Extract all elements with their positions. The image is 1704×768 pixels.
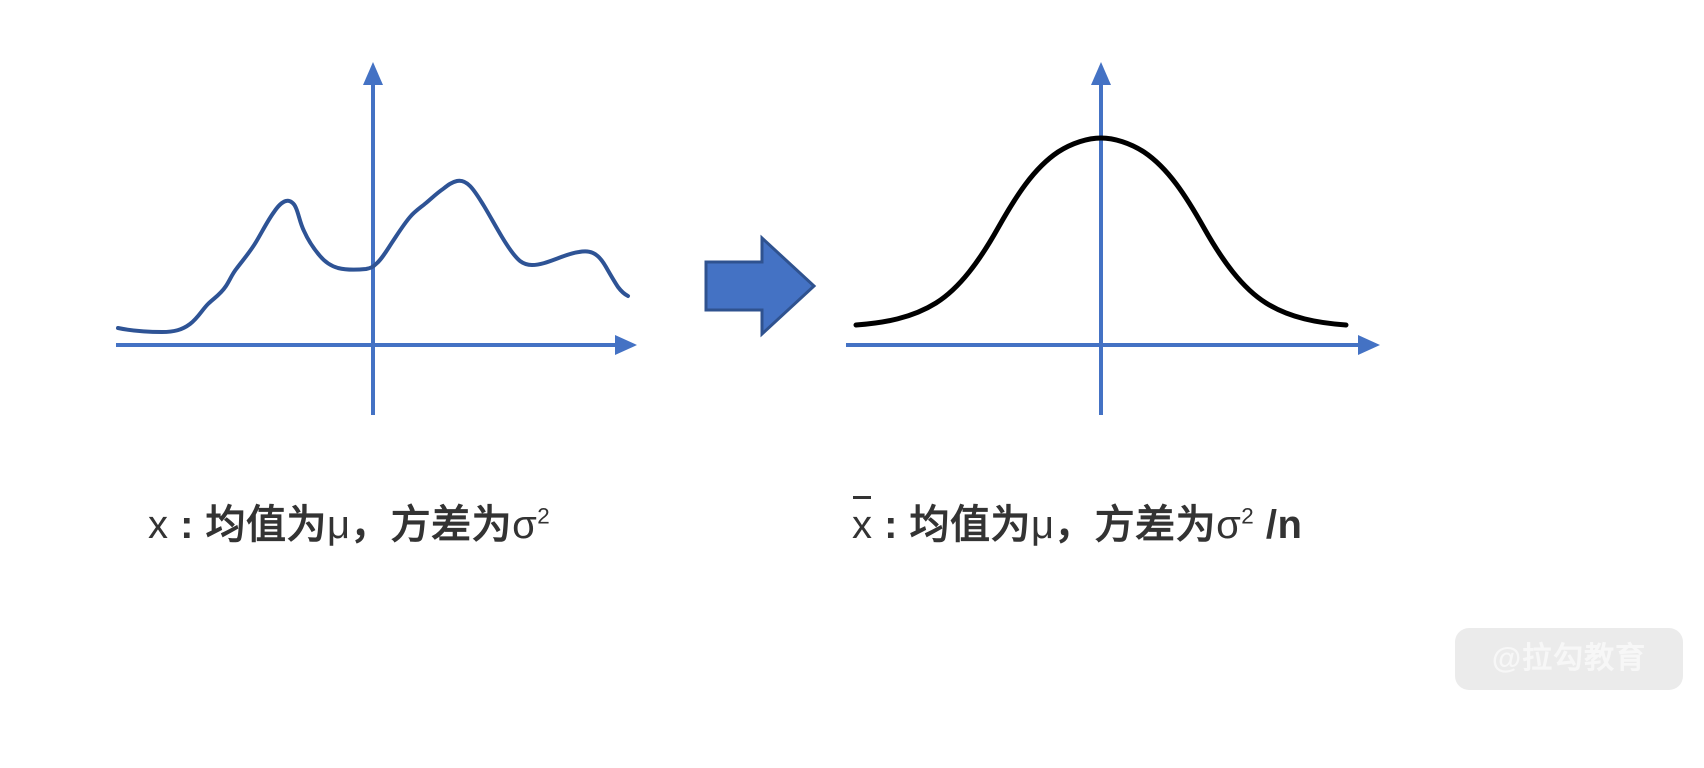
- x-axis: [846, 335, 1380, 355]
- sampling-variance-symbol: σ: [1216, 503, 1241, 547]
- population-comma: ，: [351, 503, 391, 547]
- watermark-label: @拉勾教育: [1492, 644, 1646, 674]
- y-axis: [1091, 62, 1111, 415]
- sampling-variance-text: 方差为: [1095, 503, 1217, 547]
- x-axis-arrowhead: [615, 335, 637, 355]
- sampling-divisor: /n: [1254, 503, 1302, 547]
- sampling-distribution-chart: [820, 60, 1400, 450]
- sampling-caption: x : 均值为μ，方差为σ2 /n: [852, 505, 1302, 545]
- population-variable: x: [148, 503, 169, 547]
- population-colon: :: [169, 503, 206, 547]
- population-mean-symbol: μ: [327, 503, 351, 547]
- population-variance-text: 方差为: [391, 503, 513, 547]
- population-mean-text: 均值为: [206, 503, 328, 547]
- population-variance-symbol: σ: [512, 503, 537, 547]
- sampling-comma: ，: [1055, 503, 1095, 547]
- x-axis-arrowhead: [1358, 335, 1380, 355]
- sampling-colon: :: [873, 503, 910, 547]
- y-axis-arrowhead: [363, 62, 383, 85]
- population-chart-svg: [90, 60, 670, 450]
- slide-canvas: x : 均值为μ，方差为σ2 x : 均值为μ，方差为σ2 /n @拉勾教育: [0, 0, 1704, 768]
- x-axis: [116, 335, 637, 355]
- sampling-variable-letter: x: [852, 503, 873, 547]
- sampling-mean-text: 均值为: [910, 503, 1032, 547]
- population-distribution-chart: [90, 60, 670, 450]
- sampling-mean-symbol: μ: [1031, 503, 1055, 547]
- sampling-variable: x: [852, 505, 873, 545]
- overbar-icon: [853, 496, 871, 499]
- population-caption: x : 均值为μ，方差为σ2: [148, 505, 550, 545]
- watermark-badge: @拉勾教育: [1455, 628, 1683, 690]
- y-axis-arrowhead: [1091, 62, 1111, 85]
- sampling-variance-exponent: 2: [1241, 504, 1254, 529]
- transform-arrow: [700, 228, 820, 348]
- y-axis: [363, 62, 383, 415]
- sampling-chart-svg: [820, 60, 1400, 450]
- right-arrow-icon: [700, 228, 820, 348]
- population-variance-exponent: 2: [537, 504, 550, 529]
